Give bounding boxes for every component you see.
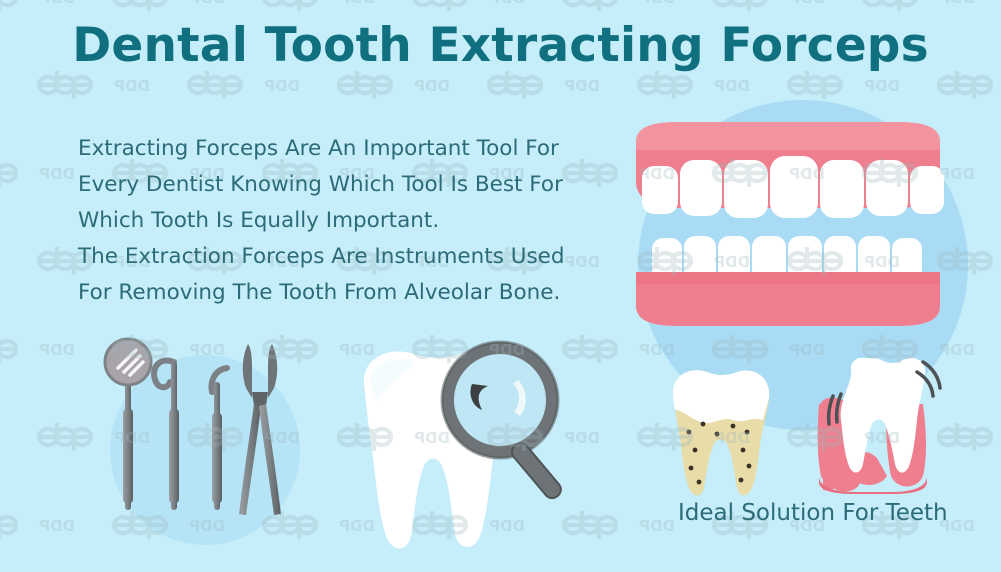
svg-text:DDP: DDP [564,77,600,95]
watermark-ddp: DDP [560,0,680,14]
svg-text:DDP: DDP [939,0,975,7]
svg-text:DDP: DDP [639,517,675,535]
svg-text:DDP: DDP [189,0,225,7]
watermark-ddp: DDP [0,156,80,190]
dental-explorer-icon [212,368,227,510]
decayed-tooth-icon [673,370,769,495]
watermark-ddp: DDP [185,68,305,102]
caption-text: Ideal Solution For Teeth [678,500,948,526]
svg-text:DDP: DDP [789,0,825,7]
sparkle-mark [923,362,940,388]
body-line-1: Extracting Forceps Are An Important Tool… [78,131,588,167]
healthy-tooth-icon [818,358,940,494]
page-title: Dental Tooth Extracting Forceps [0,18,1001,73]
watermark-ddp: DDP [785,68,905,102]
svg-text:DDP: DDP [39,341,75,359]
svg-text:DDP: DDP [39,165,75,183]
watermark-ddp: DDP [935,68,1001,102]
watermark-ddp: DDP [635,68,755,102]
watermark-ddp: DDP [410,0,530,14]
tooth-magnifier-illustration [322,340,592,565]
svg-text:DDP: DDP [264,77,300,95]
mouth-mirror-icon [105,339,151,510]
dental-tools-illustration [96,330,286,535]
body-line-5: For Removing The Tooth From Alveolar Bon… [78,275,588,311]
body-paragraph: Extracting Forceps Are An Important Tool… [78,131,588,311]
watermark-ddp: DDP [110,0,230,14]
watermark-ddp: DDP [0,68,5,102]
watermark-ddp: DDP [710,0,830,14]
sickle-probe-icon [154,361,179,510]
lower-denture [636,236,940,326]
watermark-ddp: DDP [0,0,80,14]
watermark-ddp: DDP [485,68,605,102]
watermark-ddp: DDP [260,0,380,14]
svg-text:DDP: DDP [114,77,150,95]
svg-text:DDP: DDP [39,0,75,7]
upper-teeth [642,156,944,218]
svg-text:DDP: DDP [864,77,900,95]
watermark-ddp: DDP [860,0,980,14]
svg-text:DDP: DDP [39,517,75,535]
svg-text:DDP: DDP [714,77,750,95]
svg-text:DDP: DDP [639,0,675,7]
watermark-ddp: DDP [335,68,455,102]
watermark-ddp: DDP [0,332,80,366]
tooth-comparison-illustration [655,358,955,503]
svg-text:DDP: DDP [489,0,525,7]
upper-denture [636,122,944,218]
svg-text:DDP: DDP [414,77,450,95]
watermark-ddp: DDP [0,508,80,542]
watermark-ddp: DDP [35,68,155,102]
body-line-2: Every Dentist Knowing Which Tool Is Best… [78,167,588,203]
body-line-4: The Extraction Forceps Are Instruments U… [78,239,588,275]
svg-text:DDP: DDP [339,0,375,7]
dentures-illustration [618,120,958,335]
body-line-3: Which Tooth Is Equally Important. [78,203,588,239]
infographic-canvas: Dental Tooth Extracting Forceps Extracti… [0,0,1001,572]
watermark-ddp: DDP [0,420,5,454]
extraction-forceps-icon [239,344,281,515]
watermark-ddp: DDP [0,244,5,278]
